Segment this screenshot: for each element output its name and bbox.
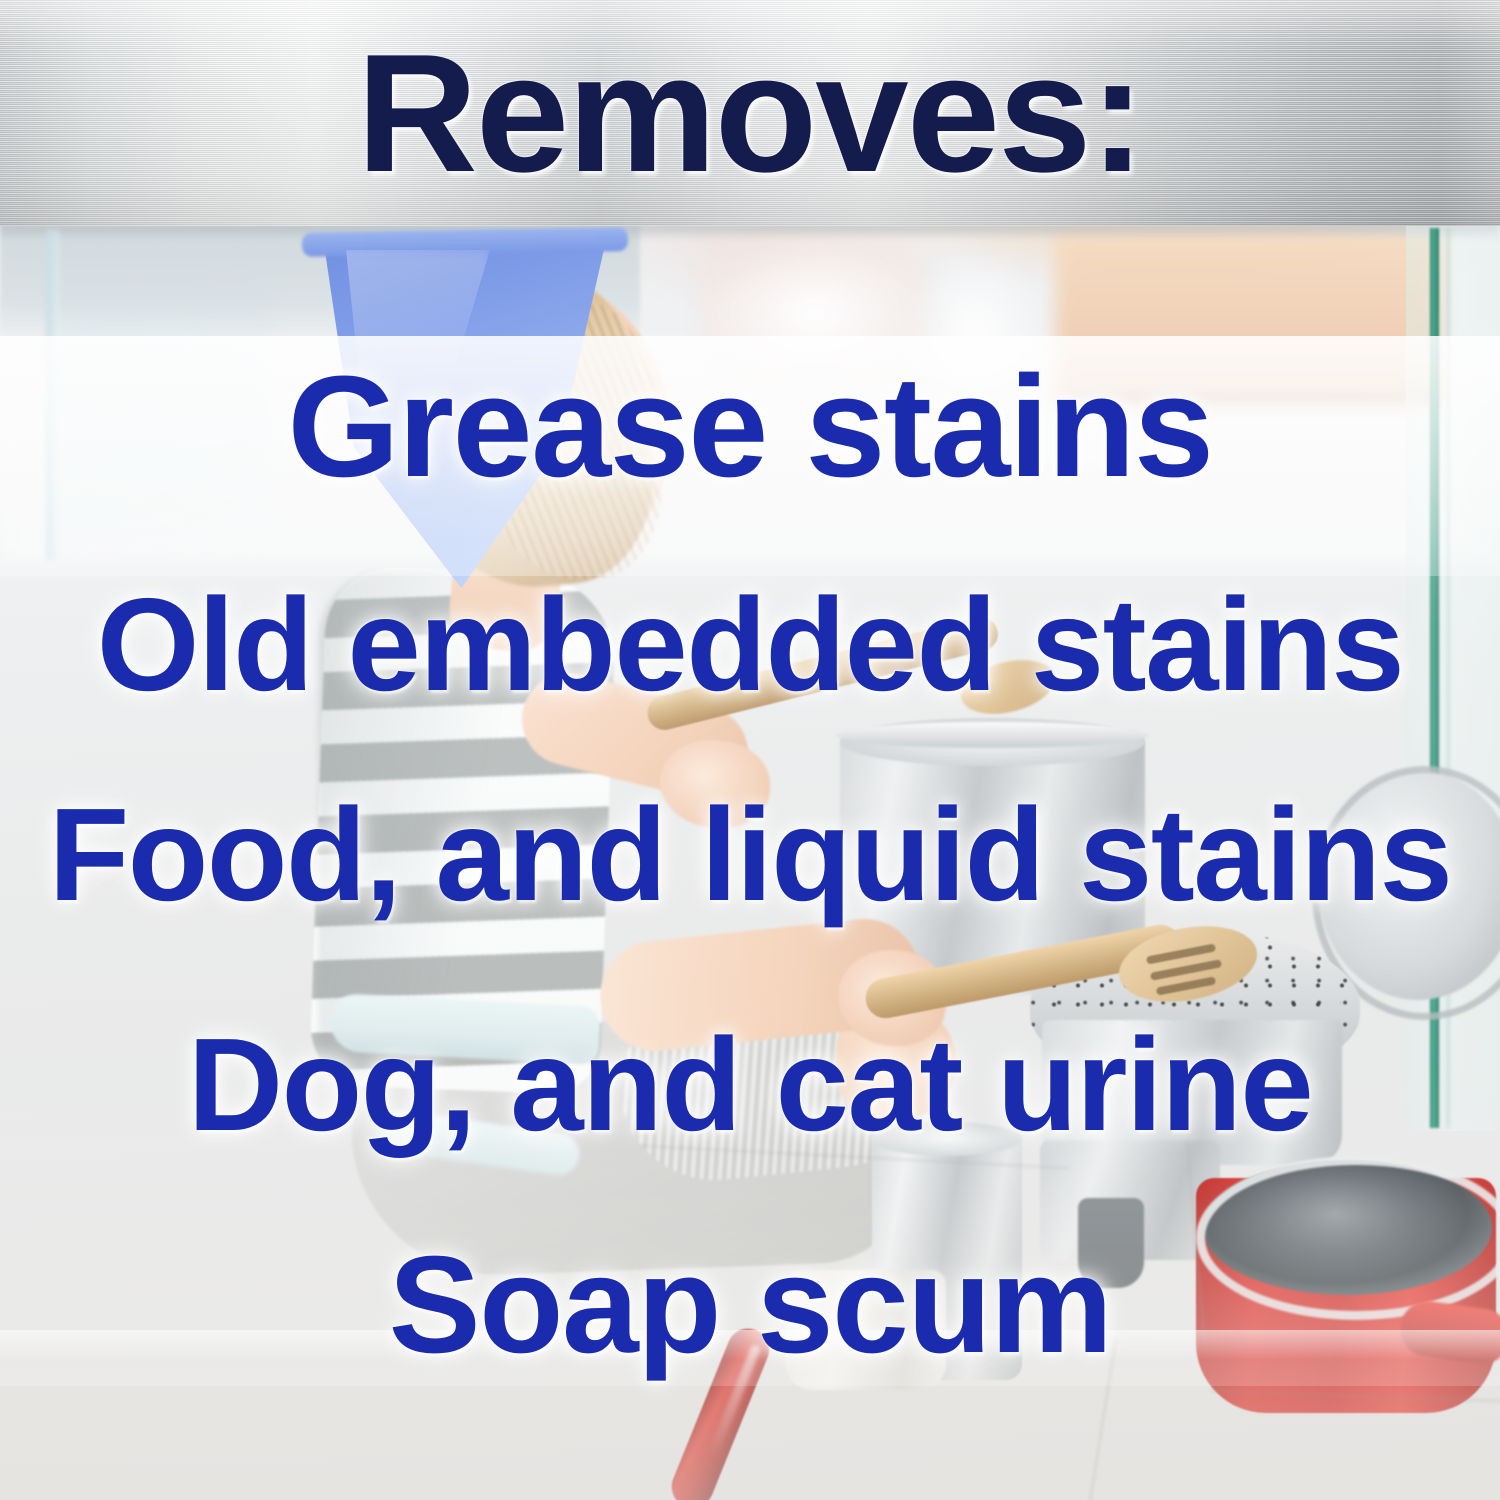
list-item-soap-scum: Soap scum — [0, 1226, 1500, 1385]
removes-list: Grease stains Old embedded stains Food, … — [0, 226, 1500, 1500]
product-infographic-image: Removes: Grease stains Old embedded stai… — [0, 0, 1500, 1500]
list-item-grease-stains: Grease stains — [0, 344, 1500, 510]
page-title: Removes: — [0, 0, 1500, 226]
list-item-food-and-liquid-stains: Food, and liquid stains — [0, 779, 1500, 930]
header-metal-banner: Removes: — [0, 0, 1500, 226]
list-item-dog-and-cat-urine: Dog, and cat urine — [0, 1009, 1500, 1160]
list-item-old-embedded-stains: Old embedded stains — [0, 569, 1500, 720]
